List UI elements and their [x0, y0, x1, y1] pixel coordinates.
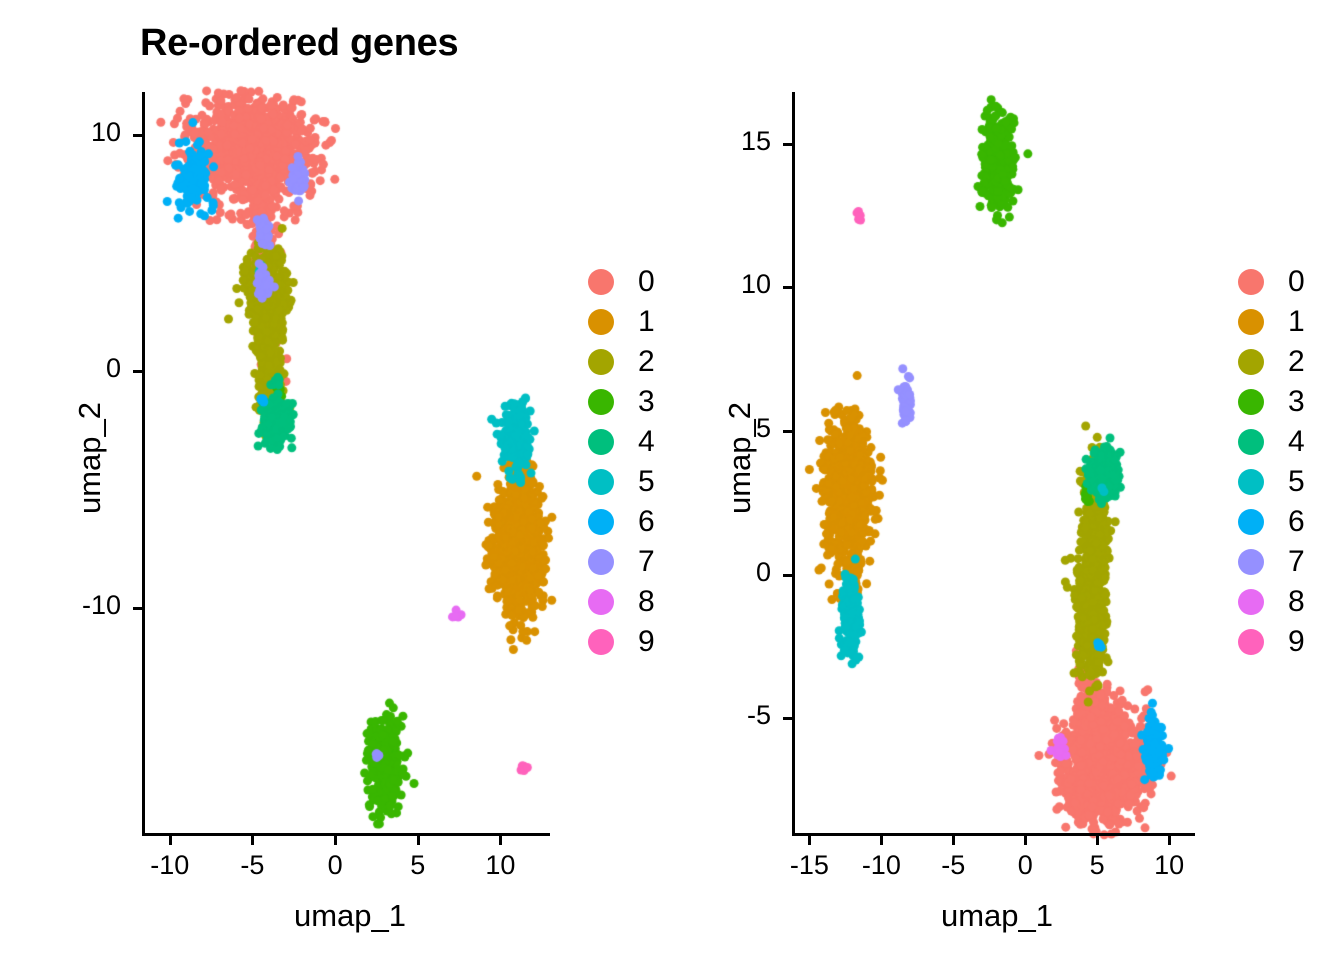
legend-item-label: 0: [1288, 267, 1305, 297]
x-tick-mark-right--10: [880, 836, 883, 845]
y-tick-label-right-15: 15: [611, 126, 771, 157]
legend-color-swatch-icon: [588, 309, 614, 335]
x-axis-title-right: umap_1: [877, 898, 1117, 934]
umap-figure: Re-ordered genes -10-50510100-10umap_1um…: [0, 0, 1344, 960]
legend-color-swatch-icon: [588, 429, 614, 455]
x-tick-mark-left--5: [251, 836, 254, 845]
legend-color-swatch-icon: [588, 589, 614, 615]
legend-item-label: 7: [638, 547, 655, 577]
y-axis-line-left: [142, 92, 145, 833]
legend-item-4[interactable]: 4: [1238, 422, 1305, 462]
legend-color-swatch-icon: [588, 509, 614, 535]
legend-item-6[interactable]: 6: [1238, 502, 1305, 542]
legend-item-9[interactable]: 9: [1238, 622, 1305, 662]
y-tick-mark-right-0: [783, 574, 792, 577]
legend-item-label: 4: [638, 427, 655, 457]
legend-item-8[interactable]: 8: [588, 582, 655, 622]
x-tick-mark-right--5: [952, 836, 955, 845]
legend-item-0[interactable]: 0: [588, 262, 655, 302]
y-tick-label-right--5: -5: [611, 700, 771, 731]
legend-item-label: 2: [1288, 347, 1305, 377]
legend-color-swatch-icon: [1238, 509, 1264, 535]
x-tick-mark-left-5: [417, 836, 420, 845]
legend-item-label: 4: [1288, 427, 1305, 457]
x-axis-line-right: [792, 833, 1195, 836]
legend-color-swatch-icon: [1238, 309, 1264, 335]
y-tick-mark-right-15: [783, 143, 792, 146]
legend-color-swatch-icon: [588, 349, 614, 375]
legend-item-label: 3: [1288, 387, 1305, 417]
x-axis-line-left: [142, 833, 550, 836]
x-tick-mark-right--15: [808, 836, 811, 845]
y-tick-mark-left-0: [133, 370, 142, 373]
legend-item-label: 1: [1288, 307, 1305, 337]
legend-item-6[interactable]: 6: [588, 502, 655, 542]
legend-color-swatch-icon: [1238, 429, 1264, 455]
y-tick-mark-left-10: [133, 134, 142, 137]
legend-item-label: 2: [638, 347, 655, 377]
x-tick-mark-left-10: [499, 836, 502, 845]
y-axis-title-right: umap_2: [722, 378, 758, 538]
legend-item-3[interactable]: 3: [588, 382, 655, 422]
y-tick-label-left--10: -10: [0, 590, 121, 621]
legend-color-swatch-icon: [1238, 589, 1264, 615]
legend-color-swatch-icon: [1238, 469, 1264, 495]
legend-item-2[interactable]: 2: [588, 342, 655, 382]
legend-color-swatch-icon: [1238, 549, 1264, 575]
legend-color-swatch-icon: [588, 269, 614, 295]
legend-item-label: 6: [1288, 507, 1305, 537]
legend-color-swatch-icon: [1238, 349, 1264, 375]
legend-color-swatch-icon: [588, 389, 614, 415]
legend-item-label: 8: [638, 587, 655, 617]
x-tick-mark-right-5: [1096, 836, 1099, 845]
legend-item-label: 9: [1288, 627, 1305, 657]
legend-item-9[interactable]: 9: [588, 622, 655, 662]
legend-color-swatch-icon: [1238, 389, 1264, 415]
legend-color-swatch-icon: [588, 629, 614, 655]
legend-item-label: 6: [638, 507, 655, 537]
legend-item-1[interactable]: 1: [1238, 302, 1305, 342]
legend-color-swatch-icon: [1238, 269, 1264, 295]
x-tick-mark-left--10: [169, 836, 172, 845]
y-tick-label-left-10: 10: [0, 117, 121, 148]
y-axis-line-right: [792, 92, 795, 833]
legend-item-1[interactable]: 1: [588, 302, 655, 342]
y-tick-mark-right--5: [783, 717, 792, 720]
x-tick-mark-right-0: [1024, 836, 1027, 845]
legend-item-label: 8: [1288, 587, 1305, 617]
legend-color-swatch-icon: [588, 549, 614, 575]
legend-item-label: 7: [1288, 547, 1305, 577]
y-tick-mark-left--10: [133, 607, 142, 610]
x-tick-label-right-10: 10: [1109, 850, 1229, 881]
legend-item-label: 9: [638, 627, 655, 657]
legend-item-7[interactable]: 7: [1238, 542, 1305, 582]
legend-item-4[interactable]: 4: [588, 422, 655, 462]
legend-item-5[interactable]: 5: [1238, 462, 1305, 502]
y-tick-mark-right-5: [783, 430, 792, 433]
legend-color-swatch-icon: [588, 469, 614, 495]
legend-item-label: 3: [638, 387, 655, 417]
x-axis-title-left: umap_1: [230, 898, 470, 934]
y-axis-title-left: umap_2: [72, 378, 108, 538]
x-tick-mark-left-0: [334, 836, 337, 845]
legend-item-3[interactable]: 3: [1238, 382, 1305, 422]
legend-item-7[interactable]: 7: [588, 542, 655, 582]
legend-item-label: 5: [1288, 467, 1305, 497]
legend-color-swatch-icon: [1238, 629, 1264, 655]
legend-item-0[interactable]: 0: [1238, 262, 1305, 302]
x-tick-label-left-10: 10: [440, 850, 560, 881]
y-tick-mark-right-10: [783, 286, 792, 289]
legend-item-8[interactable]: 8: [1238, 582, 1305, 622]
legend-item-label: 1: [638, 307, 655, 337]
x-tick-mark-right-10: [1168, 836, 1171, 845]
legend-item-label: 0: [638, 267, 655, 297]
legend-item-label: 5: [638, 467, 655, 497]
legend-item-5[interactable]: 5: [588, 462, 655, 502]
legend-item-2[interactable]: 2: [1238, 342, 1305, 382]
